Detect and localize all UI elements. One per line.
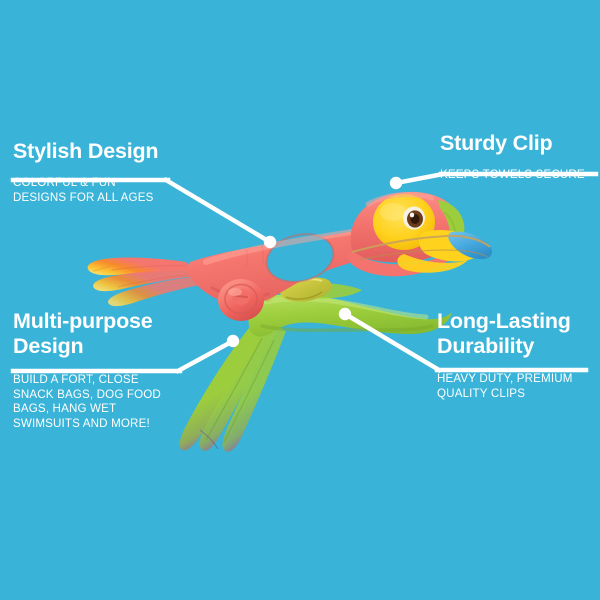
callout-multi-purpose-design: Multi-purpose Design BUILD A FORT, CLOSE… [13, 309, 253, 431]
parrot-eye [403, 207, 425, 230]
callout-body: BUILD A FORT, CLOSE SNACK BAGS, DOG FOOD… [13, 373, 253, 431]
callout-heading: Multi-purpose Design [13, 309, 253, 359]
callout-heading: Sturdy Clip [440, 131, 600, 156]
callout-long-lasting-durability: Long-Lasting Durability HEAVY DUTY, PREM… [437, 309, 600, 401]
parrot-head [348, 192, 492, 276]
callout-sturdy-clip: Sturdy Clip KEEPS TOWELS SECURE [440, 131, 600, 183]
callout-body: KEEPS TOWELS SECURE [440, 168, 600, 183]
callout-stylish-design: Stylish Design COLORFUL & FUN DESIGNS FO… [13, 139, 243, 205]
callout-body: HEAVY DUTY, PREMIUM QUALITY CLIPS [437, 372, 600, 401]
infographic-canvas: Stylish Design COLORFUL & FUN DESIGNS FO… [0, 0, 600, 600]
callout-heading: Long-Lasting Durability [437, 309, 600, 359]
callout-body: COLORFUL & FUN DESIGNS FOR ALL AGES [13, 176, 243, 205]
callout-heading: Stylish Design [13, 139, 243, 164]
product-image-parrot-clip [0, 0, 600, 600]
